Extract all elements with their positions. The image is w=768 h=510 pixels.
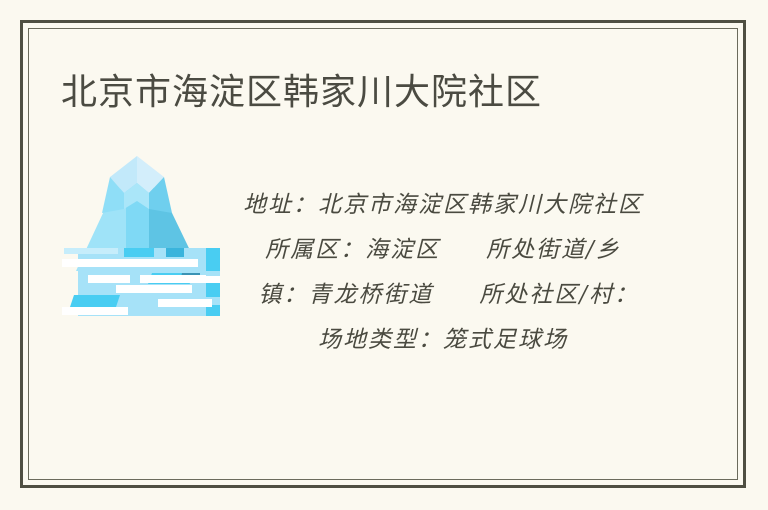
street-value: 青龙桥街道 [308, 282, 433, 308]
district-value: 海淀区 [365, 237, 440, 263]
foam-line-6 [158, 299, 212, 307]
venue-type-value: 笼式足球场 [443, 327, 568, 353]
foam-line-5 [190, 276, 220, 283]
community-label: 所处社区/村： [479, 282, 627, 308]
water-accent-1 [124, 248, 154, 257]
foam-line-7 [62, 307, 128, 315]
detail-spacer-3 [433, 282, 479, 308]
iceberg-illustration [54, 151, 220, 327]
detail-spacer-1 [643, 192, 689, 218]
info-card: 北京市海淀区韩家川大院社区 [20, 20, 746, 488]
venue-details: 地址：北京市海淀区韩家川大院社区 所属区：海淀区 所处街道/乡镇：青龙桥街道 所… [241, 183, 645, 363]
venue-type-label: 场地类型： [318, 327, 443, 353]
district-label: 所属区： [265, 237, 365, 263]
address-label: 地址： [243, 192, 318, 218]
foam-line-8 [64, 248, 118, 254]
water-accent-2 [166, 248, 184, 257]
water-accent-5 [70, 295, 120, 307]
foam-line-1 [62, 259, 198, 267]
foam-line-2 [88, 275, 130, 283]
detail-spacer-2 [440, 237, 486, 263]
page-title: 北京市海淀区韩家川大院社区 [61, 63, 542, 115]
foam-line-4 [116, 285, 192, 293]
detail-spacer-4 [628, 282, 674, 308]
address-value: 北京市海淀区韩家川大院社区 [318, 192, 643, 218]
